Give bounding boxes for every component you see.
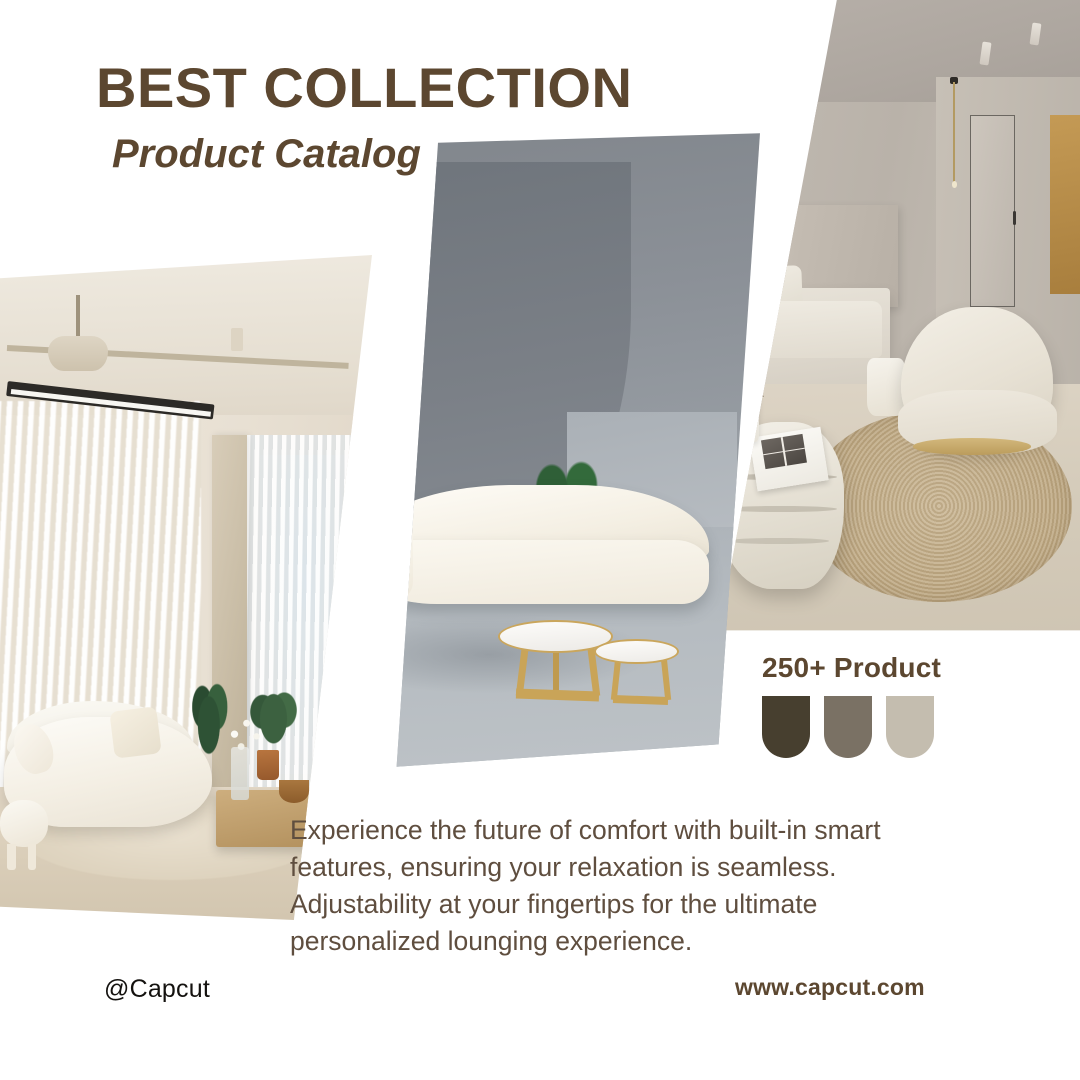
color-swatch-row [762, 696, 941, 758]
pendant-rod [953, 82, 955, 184]
stool-leg-1 [7, 844, 15, 871]
page-subtitle: Product Catalog [112, 134, 632, 174]
stool-leg-2 [28, 844, 36, 871]
stone-layer-2 [723, 506, 837, 512]
throw-pillow-right [109, 707, 161, 759]
website-url[interactable]: www.capcut.com [735, 974, 925, 1001]
ceiling-spot-light [231, 328, 243, 351]
pendant-lamp-rod [76, 295, 80, 342]
color-swatch-warm-taupe[interactable] [824, 696, 872, 758]
color-swatch-light-greige[interactable] [886, 696, 934, 758]
header-block: BEST COLLECTION Product Catalog [96, 60, 632, 174]
product-count-block: 250+ Product [762, 652, 941, 758]
lounge-chair-gold-base [913, 438, 1031, 455]
glass-vase [231, 747, 250, 800]
flush-door [970, 115, 1016, 307]
pendant-bulb [952, 181, 957, 187]
sofa-arm [358, 520, 413, 597]
wooden-bowl [279, 780, 309, 803]
textured-pouf [867, 358, 905, 416]
gallery-image-grey-studio-sofa [300, 130, 760, 770]
description-text: Experience the future of comfort with bu… [290, 812, 962, 960]
door-handle [1013, 211, 1016, 225]
page-title: BEST COLLECTION [96, 60, 632, 116]
gallery-image-concrete-bedroom [700, 0, 1080, 640]
product-catalog-poster: BEST COLLECTION Product Catalog 250+ Pro… [0, 0, 1080, 1080]
color-swatch-dark-olive-brown[interactable] [762, 696, 810, 758]
social-handle[interactable]: @Capcut [104, 975, 210, 1004]
curved-sofa-seat [369, 540, 709, 604]
pendant-lamp-shade [48, 336, 108, 371]
round-stool [0, 800, 48, 847]
grey-studio-scene [300, 130, 760, 770]
coffee-table-large-leg-c [553, 645, 559, 696]
wall-art-panel [1050, 115, 1080, 294]
product-count-label: 250+ Product [762, 652, 941, 684]
concrete-bedroom-scene [700, 0, 1080, 640]
stone-layer-3 [727, 538, 830, 544]
